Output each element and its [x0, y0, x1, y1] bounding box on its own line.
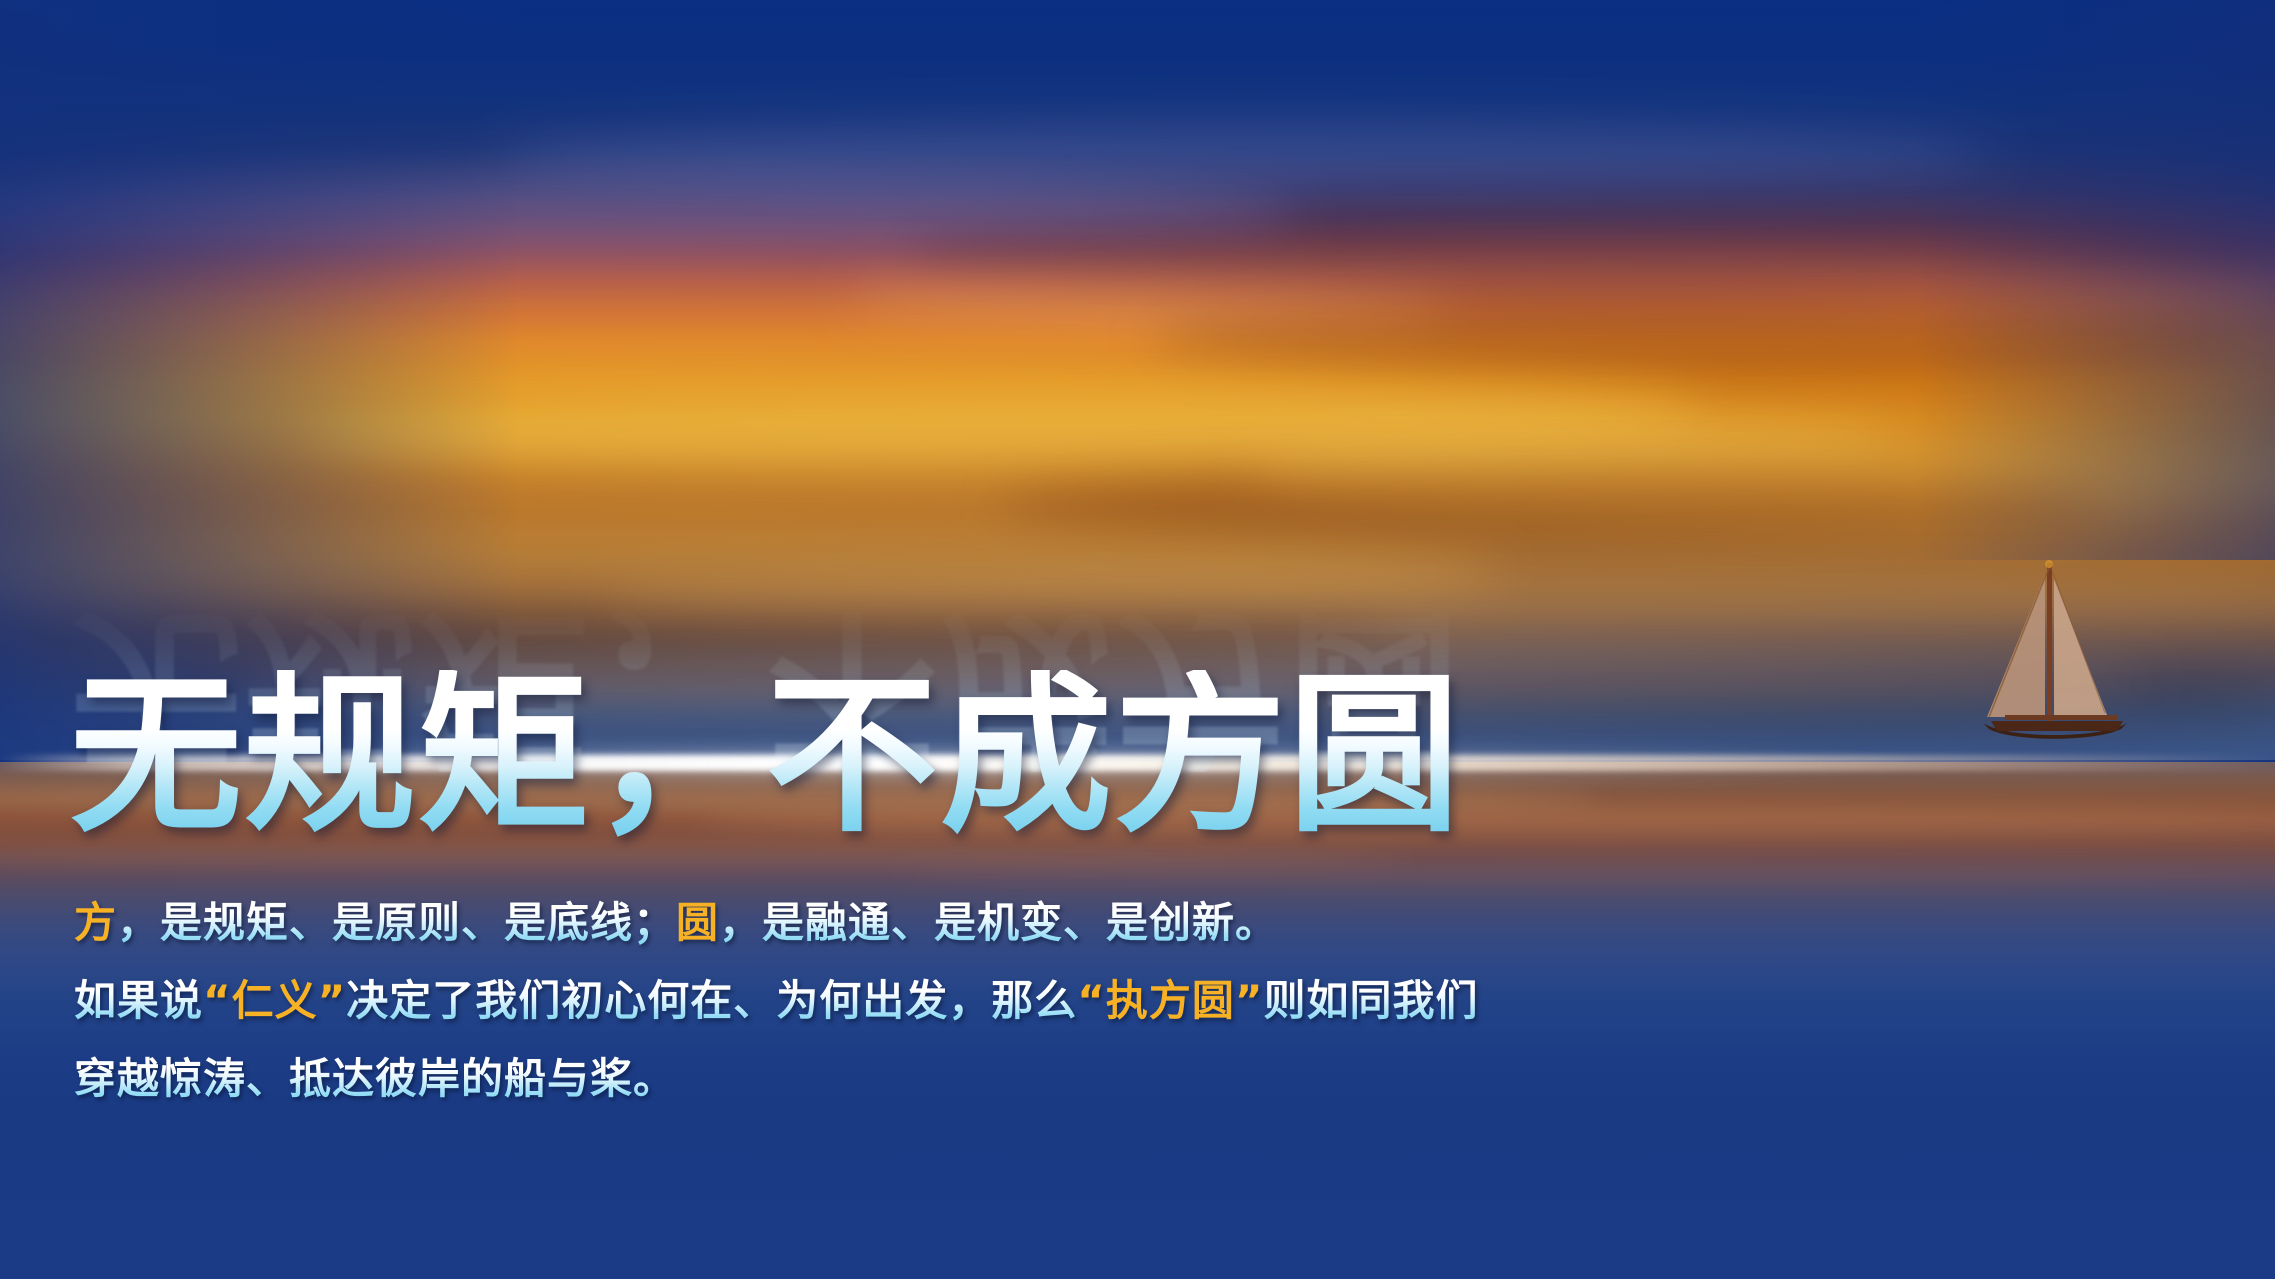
subtitle-line-2-text-b: 决定了我们初心何在、为何出发，那么 [346, 976, 1077, 1025]
subtitle-line-2-text-c: 则如同我们 [1263, 976, 1478, 1025]
sailboat-icon [1955, 545, 2145, 745]
accent-renyi: “仁义” [203, 976, 346, 1025]
subtitle-block: 方，是规矩、是原则、是底线；圆，是融通、是机变、是创新。 如果说“仁义”决定了我… [74, 884, 1478, 1118]
subtitle-line-1-text-b: ，是融通、是机变、是创新。 [719, 898, 1278, 947]
page-title: 无规矩，不成方圆 [70, 670, 1462, 842]
subtitle-line-2: 如果说“仁义”决定了我们初心何在、为何出发，那么“执方圆”则如同我们 [74, 962, 1478, 1040]
accent-fang: 方 [74, 898, 117, 947]
subtitle-line-1: 方，是规矩、是原则、是底线；圆，是融通、是机变、是创新。 [74, 884, 1478, 962]
poster-canvas: 无规矩，不成方圆 无规矩，不成方圆 方，是规矩、是原则、是底线；圆，是融通、是机… [0, 0, 2275, 1279]
accent-zhifangyuan: “执方圆” [1077, 976, 1263, 1025]
subtitle-line-2-text-a: 如果说 [74, 976, 203, 1025]
subtitle-line-1-text-a: ，是规矩、是原则、是底线； [117, 898, 676, 947]
subtitle-line-3-text: 穿越惊涛、抵达彼岸的船与桨。 [74, 1054, 676, 1103]
accent-yuan-boxed: 圆 [676, 898, 719, 947]
subtitle-line-3: 穿越惊涛、抵达彼岸的船与桨。 [74, 1040, 1478, 1118]
cloud-streak [500, 120, 2000, 190]
